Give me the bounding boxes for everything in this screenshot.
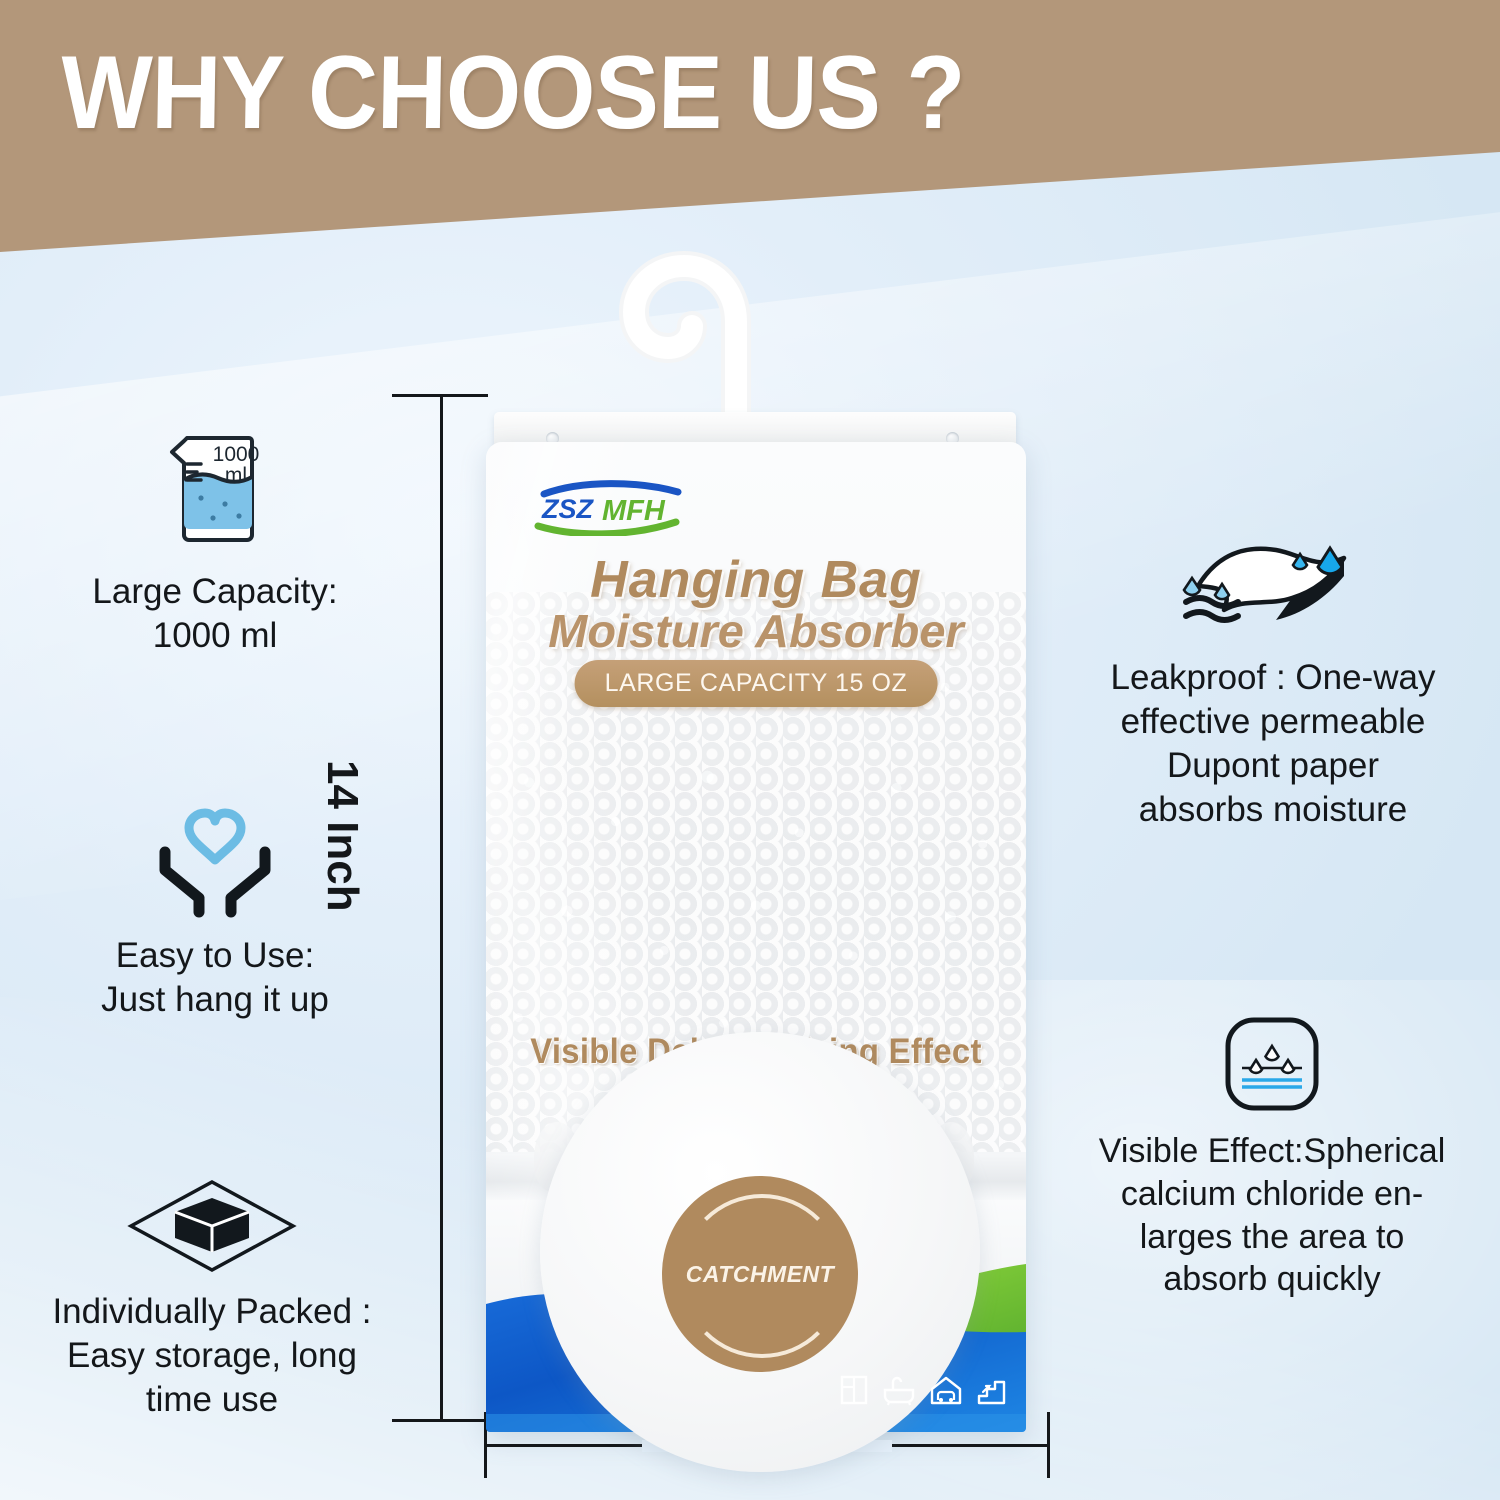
- brand-text-mfh: MFH: [602, 495, 666, 527]
- brand-text-zsz: ZSZ: [541, 494, 595, 524]
- permeable-paper-droplets-icon: [1048, 536, 1498, 642]
- catchment-label: CATCHMENT: [686, 1261, 834, 1288]
- brand-logo: ZSZ MFH: [526, 480, 691, 536]
- feature-easy-to-use-text: Easy to Use: Just hang it up: [20, 934, 410, 1022]
- width-dimension-cap-right: [1047, 1412, 1050, 1478]
- height-dimension-label: 14 Inch: [317, 760, 367, 912]
- usage-location-icons: [839, 1374, 1008, 1406]
- feature-leakproof: Leakproof : One-way effective permeable …: [1048, 536, 1498, 832]
- garage-icon: [929, 1374, 963, 1406]
- feature-large-capacity: 1000 ml Large Capacity: 1000 ml: [20, 424, 410, 658]
- feature-visible-effect: Visible Effect:Spherical calcium chlorid…: [1046, 1016, 1498, 1301]
- infographic-canvas: WHY CHOOSE US ? 1000 ml Large Capac: [0, 0, 1500, 1500]
- beaker-1000ml-icon: 1000 ml: [20, 424, 410, 556]
- feature-individually-packed: Individually Packed : Easy storage, long…: [2, 1176, 422, 1422]
- height-dimension-stroke: [440, 394, 443, 1422]
- product-title-line2: Moisture Absorber: [486, 604, 1026, 658]
- wardrobe-icon: [839, 1374, 869, 1406]
- product-package: ZSZ MFH Hanging Bag Moisture Absorber LA…: [472, 236, 1048, 1436]
- catchment-badge: CATCHMENT: [662, 1176, 858, 1372]
- droplets-over-water-icon: [1046, 1016, 1498, 1116]
- beaker-unit-ml: ml: [225, 464, 247, 487]
- feature-visible-effect-text: Visible Effect:Spherical calcium chlorid…: [1046, 1130, 1498, 1301]
- page-title: WHY CHOOSE US ?: [60, 34, 965, 153]
- height-dimension-cap-top: [392, 394, 488, 397]
- height-dimension-line: [440, 394, 442, 1422]
- product-title-line1: Hanging Bag: [486, 550, 1026, 610]
- height-dimension-cap-bottom: [392, 1419, 488, 1422]
- bathtub-icon: [882, 1374, 916, 1406]
- hanger-hook-icon: [572, 236, 902, 426]
- feature-leakproof-text: Leakproof : One-way effective permeable …: [1048, 656, 1498, 832]
- boxed-package-icon: [2, 1176, 422, 1276]
- feature-large-capacity-text: Large Capacity: 1000 ml: [20, 570, 410, 658]
- capacity-badge: LARGE CAPACITY 15 OZ: [575, 660, 938, 707]
- feature-individually-packed-text: Individually Packed : Easy storage, long…: [2, 1290, 422, 1422]
- beaker-value-1000: 1000: [213, 443, 260, 466]
- basement-stairs-icon: [976, 1374, 1008, 1406]
